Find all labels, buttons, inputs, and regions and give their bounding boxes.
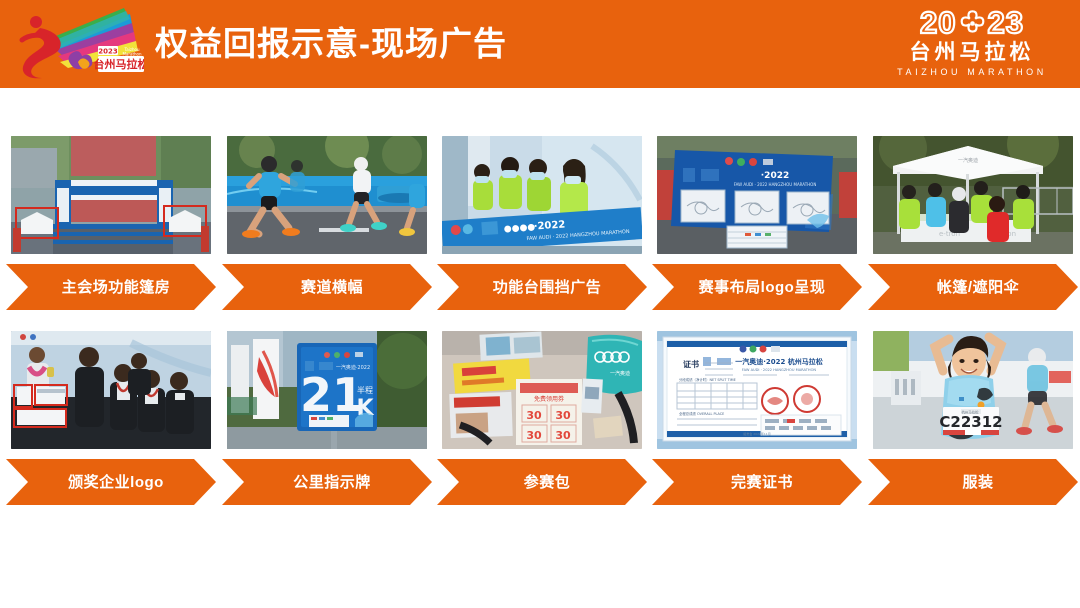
card-row-1: 主会场功能篷房 bbox=[0, 136, 1080, 311]
svg-text:FAW AUDI · 2022 HANGZHOU MARAT: FAW AUDI · 2022 HANGZHOU MARATHON bbox=[742, 368, 817, 372]
label-text: 赛事布局logo呈现 bbox=[699, 278, 826, 297]
svg-text:台州马拉松: 台州马拉松 bbox=[94, 57, 145, 71]
photo-award-ceremony-sponsor-logo bbox=[11, 331, 211, 449]
logo-cn-text: 台州马拉松 bbox=[878, 41, 1066, 65]
label-text: 功能台围挡广告 bbox=[493, 278, 602, 297]
card-course-banner[interactable]: 赛道横幅 bbox=[222, 136, 432, 311]
svg-text:Marathon: Marathon bbox=[122, 52, 142, 57]
svg-text:免费领用券: 免费领用券 bbox=[534, 395, 564, 403]
label-text: 主会场功能篷房 bbox=[62, 278, 171, 297]
svg-text:·2022: ·2022 bbox=[533, 219, 565, 232]
content-board: 主会场功能篷房 bbox=[0, 88, 1080, 608]
svg-text:一汽奥迪: 一汽奥迪 bbox=[610, 370, 630, 377]
svg-text:30: 30 bbox=[526, 409, 542, 422]
label-tent-parasol[interactable]: 帐篷/遮阳伞 bbox=[868, 264, 1078, 310]
photo-apparel: 杭州马拉松 C22312 bbox=[873, 331, 1073, 449]
svg-text:·2022: ·2022 bbox=[761, 171, 789, 181]
svg-text:组委会 2022年11月: 组委会 2022年11月 bbox=[743, 431, 770, 436]
card-kilometer-sign[interactable]: 一汽奥迪·2022 21 K 半程 公里指示牌 bbox=[222, 331, 432, 506]
taizhou-marathon-runner-logo: 台州马拉松 2023 Taizhou Marathon bbox=[12, 4, 144, 84]
label-kilometer-sign[interactable]: 公里指示牌 bbox=[222, 459, 432, 505]
photo-function-desk-banner-ad: ●●●● ·2022 FAW AUDI · 2022 HANGZHOU MARA… bbox=[442, 136, 642, 254]
photo-course-banner bbox=[227, 136, 427, 254]
logo-en-text: TAIZHOU MARATHON bbox=[878, 66, 1066, 79]
logo-year-right: 23 bbox=[988, 6, 1024, 40]
label-race-pack[interactable]: 参赛包 bbox=[437, 459, 647, 505]
photo-kilometer-sign: 一汽奥迪·2022 21 K 半程 bbox=[227, 331, 427, 449]
svg-text:2023: 2023 bbox=[98, 48, 118, 56]
flower-icon bbox=[959, 10, 986, 37]
label-text: 完赛证书 bbox=[731, 473, 793, 492]
card-function-desk-banner-ad[interactable]: ●●●● ·2022 FAW AUDI · 2022 HANGZHOU MARA… bbox=[437, 136, 647, 311]
card-tent-parasol[interactable]: 一汽奥迪 e-tron e-tron bbox=[868, 136, 1078, 311]
photo-race-pack: 一汽奥迪 免费领用券 bbox=[442, 331, 642, 449]
label-text: 参赛包 bbox=[524, 473, 571, 492]
svg-text:证书: 证书 bbox=[683, 359, 699, 369]
label-text: 公里指示牌 bbox=[293, 473, 371, 492]
svg-text:30: 30 bbox=[526, 429, 542, 442]
card-race-pack[interactable]: 一汽奥迪 免费领用券 bbox=[437, 331, 647, 506]
label-text: 帐篷/遮阳伞 bbox=[937, 278, 1019, 297]
svg-text:半程: 半程 bbox=[357, 385, 373, 395]
page-title: 权益回报示意-现场广告 bbox=[155, 16, 507, 72]
photo-tent-parasol: 一汽奥迪 e-tron e-tron bbox=[873, 136, 1073, 254]
logo-year-left: 20 bbox=[920, 6, 956, 40]
taizhou-marathon-2023-logo: 20 23 台州马拉松 TAIZHOU MARATHON bbox=[878, 6, 1066, 82]
label-course-banner[interactable]: 赛道横幅 bbox=[222, 264, 432, 310]
card-event-layout-logo[interactable]: ·2022 FAW AUDI · 2022 HANGZHOU MARATHON bbox=[652, 136, 862, 311]
label-text: 服装 bbox=[962, 473, 993, 492]
photo-main-venue-function-tent bbox=[11, 136, 211, 254]
label-apparel[interactable]: 服装 bbox=[868, 459, 1078, 505]
label-text: 颁奖企业logo bbox=[68, 473, 164, 492]
svg-text:一汽奥迪·2022 杭州马拉松: 一汽奥迪·2022 杭州马拉松 bbox=[735, 357, 823, 366]
card-main-venue-function-tent[interactable]: 主会场功能篷房 bbox=[6, 136, 216, 311]
svg-text:30: 30 bbox=[555, 409, 571, 422]
label-event-layout-logo[interactable]: 赛事布局logo呈现 bbox=[652, 264, 862, 310]
label-text: 赛道横幅 bbox=[301, 278, 363, 297]
page-header: 台州马拉松 2023 Taizhou Marathon 权益回报示意-现场广告 … bbox=[0, 0, 1080, 88]
svg-text:分段成绩（净计时）NET SPLIT TIME: 分段成绩（净计时）NET SPLIT TIME bbox=[679, 377, 736, 382]
card-apparel[interactable]: 杭州马拉松 C22312 服装 bbox=[868, 331, 1078, 506]
svg-text:C22312: C22312 bbox=[939, 413, 1002, 431]
card-award-ceremony-sponsor-logo[interactable]: 颁奖企业logo bbox=[6, 331, 216, 506]
card-finisher-certificate[interactable]: 一汽奥迪·2022 杭州马拉松 FAW AUDI · 2022 HANGZHOU… bbox=[652, 331, 862, 506]
label-award-ceremony-sponsor-logo[interactable]: 颁奖企业logo bbox=[6, 459, 216, 505]
photo-finisher-certificate: 一汽奥迪·2022 杭州马拉松 FAW AUDI · 2022 HANGZHOU… bbox=[657, 331, 857, 449]
label-function-desk-banner-ad[interactable]: 功能台围挡广告 bbox=[437, 264, 647, 310]
svg-text:FAW AUDI · 2022 HANGZHOU MARAT: FAW AUDI · 2022 HANGZHOU MARATHON bbox=[734, 182, 817, 187]
svg-text:全程总成绩 OVERALL PLACE: 全程总成绩 OVERALL PLACE bbox=[679, 411, 724, 416]
label-main-venue-function-tent[interactable]: 主会场功能篷房 bbox=[6, 264, 216, 310]
label-finisher-certificate[interactable]: 完赛证书 bbox=[652, 459, 862, 505]
card-row-2: 颁奖企业logo bbox=[0, 331, 1080, 506]
photo-event-layout-logo: ·2022 FAW AUDI · 2022 HANGZHOU MARATHON bbox=[657, 136, 857, 254]
svg-text:21: 21 bbox=[300, 368, 364, 422]
svg-text:30: 30 bbox=[555, 429, 571, 442]
svg-text:一汽奥迪: 一汽奥迪 bbox=[958, 157, 978, 164]
